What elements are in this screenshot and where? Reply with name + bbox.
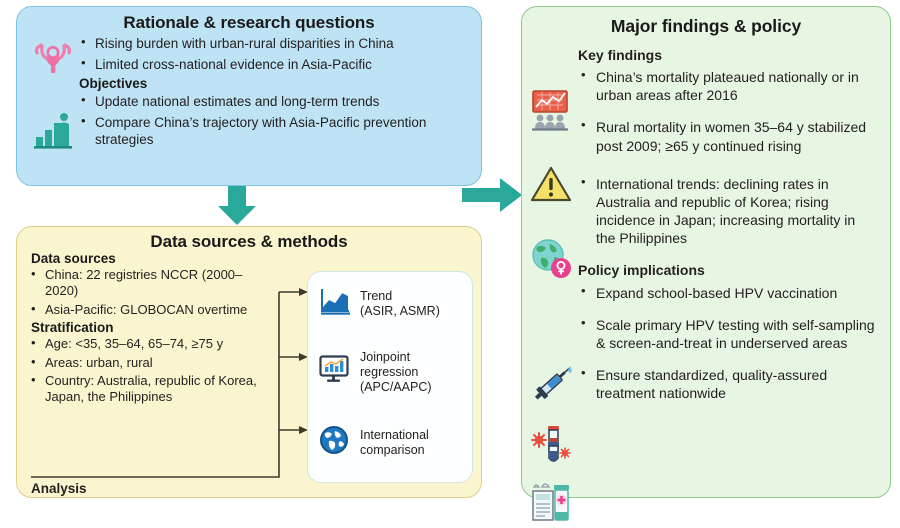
list-item: Country: Australia, republic of Korea, J… [29,373,265,406]
method-label-trend: Trend (ASIR, ASMR) [360,289,440,319]
list-item: China: 22 registries NCCR (2000–2020) [29,267,265,300]
list-item: Expand school-based HPV vaccination [578,284,878,302]
key-findings-heading: Key findings [578,47,878,63]
list-item: International trends: declining rates in… [578,175,878,248]
data-sources-heading: Data sources [31,251,265,266]
monitor-chart-icon [318,354,352,391]
stratification-heading: Stratification [31,320,265,335]
list-item: Rising burden with urban-rural dispariti… [79,35,471,53]
list-item: Age: <35, 35–64, 65–74, ≥75 y [29,336,265,352]
list-item: Areas: urban, rural [29,355,265,371]
list-item: Update national estimates and long-term … [79,93,471,111]
arrow-down-icon [216,186,258,226]
line-chart-icon [318,286,352,321]
method-row-joinpoint: Joinpoint regression (APC/AAPC) [318,350,468,395]
policy-implications-heading: Policy implications [578,262,878,278]
panel-findings: Major findings & policy Key findings [521,6,891,498]
panel-methods: Data sources & methods Data sources Chin… [16,226,482,498]
list-item: Rural mortality in women 35–64 y stabili… [578,118,878,154]
panel-rationale: Rationale & research questions [16,6,482,186]
clipboard-medicine-icon [530,479,576,528]
method-row-trend: Trend (ASIR, ASMR) [318,286,468,321]
rationale-bullets-objectives: Update national estimates and long-term … [79,93,471,149]
method-label-joinpoint: Joinpoint regression (APC/AAPC) [360,350,432,395]
syringe-icon [530,362,576,409]
list-item: Asia-Pacific: GLOBOCAN overtime [29,302,265,318]
list-item: Limited cross-national evidence in Asia-… [79,56,471,74]
globe-female-icon [528,237,574,286]
method-row-international: International comparison [318,424,468,461]
panel-findings-title: Major findings & policy [522,7,890,37]
objectives-heading: Objectives [79,76,471,91]
panel-rationale-title: Rationale & research questions [17,7,481,33]
stratification-list: Age: <35, 35–64, 65–74, ≥75 y Areas: urb… [29,336,265,406]
list-item: Ensure standardized, quality-assured tre… [578,366,878,402]
analysis-heading: Analysis [31,481,87,496]
list-item: Compare China’s trajectory with Asia-Pac… [79,114,471,149]
warning-triangle-icon [530,165,572,208]
key-findings-list: China’s mortality plateaued nationally o… [522,68,878,248]
arrow-right-icon [462,175,524,215]
test-tube-virus-icon [530,422,576,473]
globe-icon [318,424,352,461]
rationale-bullets-top: Rising burden with urban-rural dispariti… [79,35,471,73]
data-sources-list: China: 22 registries NCCR (2000–2020) As… [29,267,265,318]
list-item: Scale primary HPV testing with self-samp… [578,316,878,352]
methods-box: Trend (ASIR, ASMR) Joinpoint re [307,271,473,483]
presentation-chart-icon [528,89,572,136]
method-label-international: International comparison [360,428,429,458]
list-item: China’s mortality plateaued nationally o… [578,68,878,104]
